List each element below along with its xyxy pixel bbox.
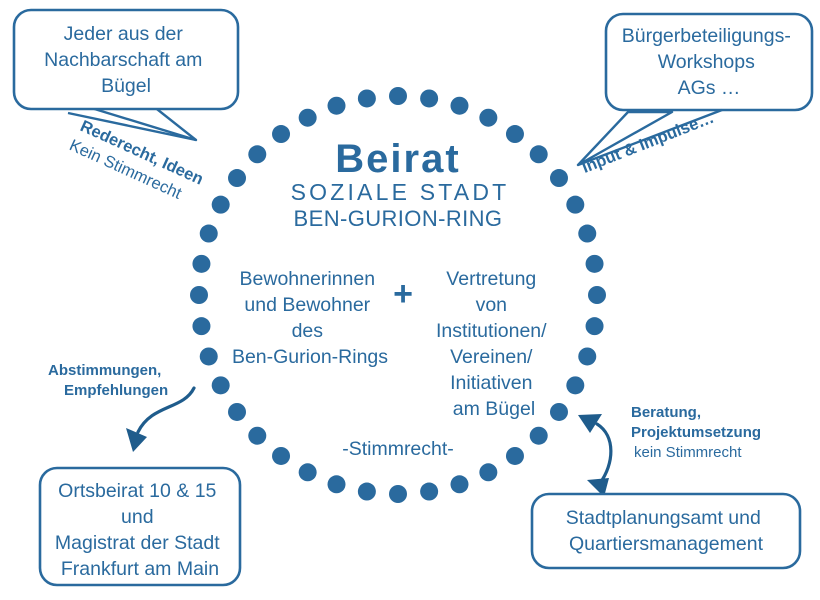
ring-dot <box>248 145 266 163</box>
ring-dot <box>586 255 604 273</box>
ring-dot <box>420 483 438 501</box>
ring-dot <box>420 89 438 107</box>
ring-dot <box>272 125 290 143</box>
diagram-canvas: Jeder aus der Nachbarschaft am Bügel Red… <box>0 0 820 600</box>
ring-dot <box>566 376 584 394</box>
ring-dot <box>190 286 208 304</box>
ring-dot <box>450 97 468 115</box>
box-stadtplanungsamt[interactable]: Stadtplanungsamt und Quartiersmanagement <box>532 494 800 568</box>
ring-dot <box>530 427 548 445</box>
ring-dot <box>200 225 218 243</box>
ring-dot <box>506 125 524 143</box>
ring-dot <box>212 196 230 214</box>
ring-dot <box>479 463 497 481</box>
ring-dot <box>578 225 596 243</box>
ring-dot <box>578 347 596 365</box>
ring-dot <box>389 485 407 503</box>
center-plus-operator: + <box>393 275 413 313</box>
ring-dot <box>192 255 210 273</box>
annotation-beratung-line-2: Projektumsetzung <box>631 424 761 441</box>
ring-dot <box>358 483 376 501</box>
ring-dot <box>192 317 210 335</box>
box-ortsbeirat[interactable]: Ortsbeirat 10 & 15 und Magistrat der Sta… <box>40 468 240 585</box>
ring-dot <box>566 196 584 214</box>
ring-dot <box>212 376 230 394</box>
ring-dot <box>389 87 407 105</box>
ring-dot <box>299 109 317 127</box>
ring-dot <box>479 109 497 127</box>
ring-dot <box>550 169 568 187</box>
center-subtitle-1: SOZIALE STADT <box>291 179 510 205</box>
ring-dot <box>272 447 290 465</box>
center-footer: -Stimmrecht- <box>342 438 454 460</box>
ring-dot <box>299 463 317 481</box>
ring-dot <box>550 403 568 421</box>
center-content: Beirat SOZIALE STADT BEN-GURION-RING Bew… <box>232 137 552 460</box>
box-stadtplanungsamt-body <box>532 494 800 568</box>
ring-dot <box>228 169 246 187</box>
center-title: Beirat <box>335 137 460 181</box>
ring-dot <box>450 475 468 493</box>
annotation-beratung-line-3: kein Stimmrecht <box>634 444 742 461</box>
ring-dot <box>530 145 548 163</box>
center-subtitle-2: BEN-GURION-RING <box>294 206 503 231</box>
center-left-group: Bewohnerinnen und Bewohner des Ben-Gurio… <box>232 268 388 368</box>
arrow-beirat-stadtplanungsamt <box>578 414 611 497</box>
ring-dot <box>506 447 524 465</box>
bubble-neighbourhood[interactable]: Jeder aus der Nachbarschaft am Bügel <box>14 10 238 140</box>
ring-dot <box>248 427 266 445</box>
annotation-beratung: Beratung, Projektumsetzung kein Stimmrec… <box>631 404 761 461</box>
ring-dot <box>228 403 246 421</box>
center-right-group: Vertretung von Institutionen/ Vereinen/ … <box>436 268 552 420</box>
ring-dot <box>328 475 346 493</box>
annotation-abstimmungen: Abstimmungen, Empfehlungen <box>48 362 168 399</box>
bubble-participation[interactable]: Bürgerbeteiligungs- Workshops AGs … <box>578 14 812 165</box>
annotation-abstimmungen-line-1: Abstimmungen, <box>48 362 161 379</box>
ring-dot <box>328 97 346 115</box>
ring-dot <box>586 317 604 335</box>
ring-dot <box>588 286 606 304</box>
ring-dot <box>358 89 376 107</box>
beirat-diagram: Jeder aus der Nachbarschaft am Bügel Red… <box>0 0 820 600</box>
annotation-beratung-line-1: Beratung, <box>631 404 701 421</box>
annotation-abstimmungen-line-2: Empfehlungen <box>64 382 168 399</box>
ring-dot <box>200 347 218 365</box>
